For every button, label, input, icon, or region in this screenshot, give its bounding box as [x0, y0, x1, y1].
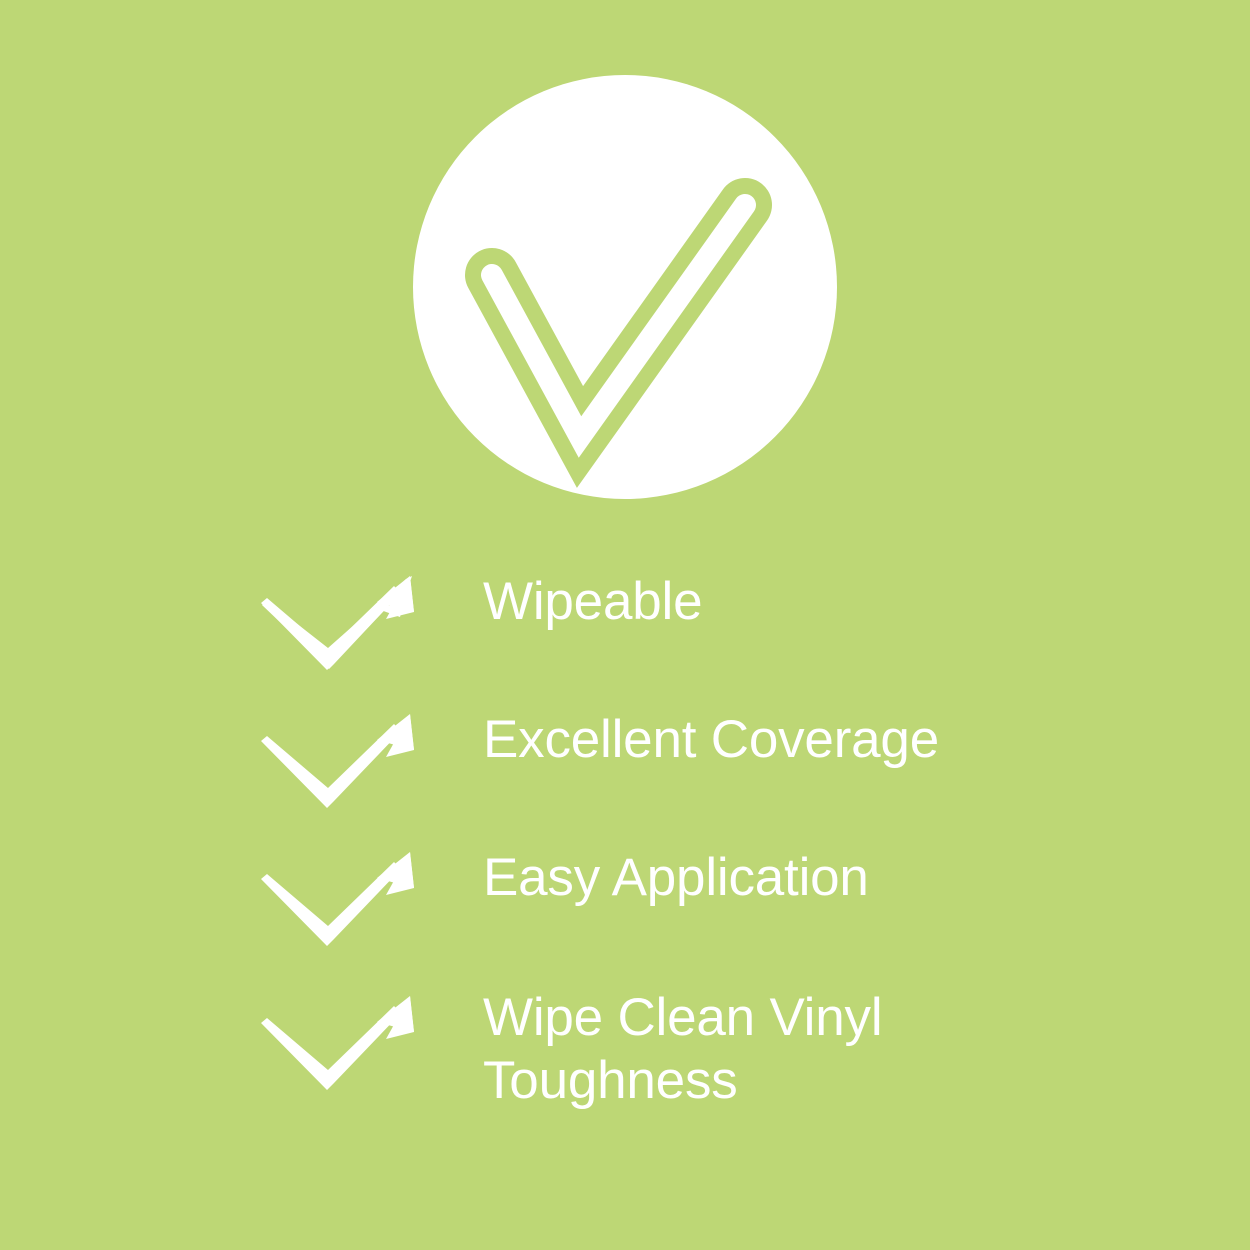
- benefit-list: Wipeable Excellent Coverage Easy App: [0, 560, 1250, 1164]
- benefit-item-1: Wipeable: [0, 560, 1250, 698]
- check-arrow-icon: [258, 572, 458, 682]
- benefit-item-4: Wipe Clean Vinyl Toughness: [0, 974, 1250, 1164]
- check-arrow-icon: [258, 848, 458, 958]
- hero-check-badge: [413, 75, 837, 499]
- benefit-item-3: Easy Application: [0, 836, 1250, 974]
- benefit-label: Excellent Coverage: [483, 708, 1250, 771]
- benefit-label: Easy Application: [483, 846, 1250, 909]
- benefit-label: Wipe Clean Vinyl Toughness: [483, 986, 1250, 1112]
- check-arrow-icon: [258, 710, 458, 820]
- benefit-label: Wipeable: [483, 570, 1250, 633]
- benefit-item-2: Excellent Coverage: [0, 698, 1250, 836]
- check-circle-icon: [413, 75, 837, 499]
- feature-panel: Wipeable Excellent Coverage Easy App: [0, 0, 1250, 1250]
- check-arrow-icon: [258, 992, 458, 1102]
